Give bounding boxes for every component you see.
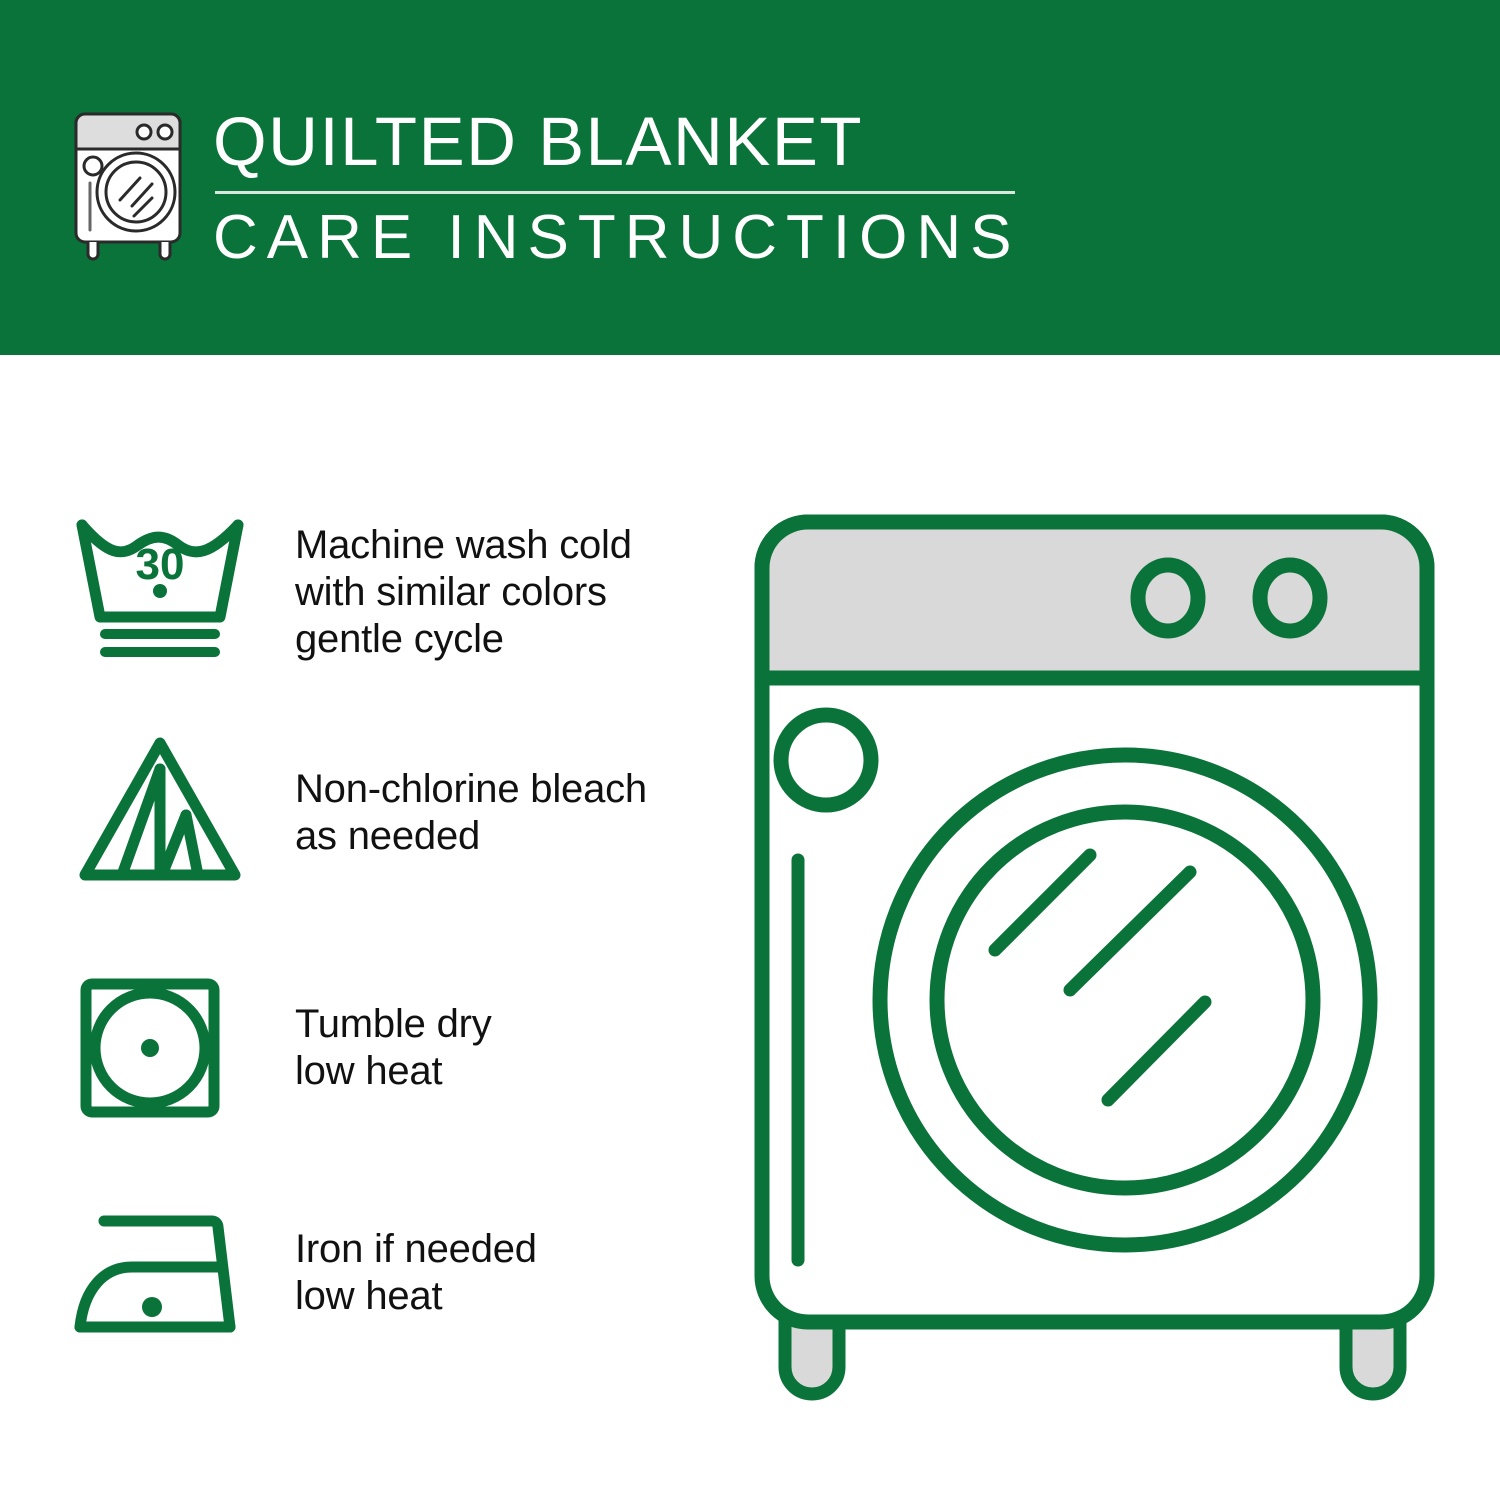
non-chlorine-bleach-triangle-icon xyxy=(60,725,260,900)
care-text-line: low heat xyxy=(295,1048,492,1095)
care-text-line: Non-chlorine bleach xyxy=(295,766,647,813)
care-item-iron: Iron if needed low heat xyxy=(0,1185,740,1360)
header-title-group: QUILTED BLANKET CARE INSTRUCTIONS xyxy=(213,102,1053,276)
care-item-iron-text: Iron if needed low heat xyxy=(295,1226,537,1320)
header-banner: QUILTED BLANKET CARE INSTRUCTIONS xyxy=(0,0,1500,355)
care-instructions-list: 30 Machine wash cold with similar colors… xyxy=(0,355,740,1500)
wash-temperature-label: 30 xyxy=(136,540,185,589)
care-item-wash: 30 Machine wash cold with similar colors… xyxy=(0,505,740,680)
title-divider xyxy=(215,191,1015,194)
page-title: QUILTED BLANKET xyxy=(213,102,1053,182)
care-text-line: Machine wash cold xyxy=(295,522,632,569)
front-load-washing-machine-illustration xyxy=(740,460,1500,1440)
wash-tub-30-icon: 30 xyxy=(60,505,260,680)
care-item-tumble-dry-text: Tumble dry low heat xyxy=(295,1001,492,1095)
page-subtitle: CARE INSTRUCTIONS xyxy=(213,200,1053,276)
care-instructions-page: QUILTED BLANKET CARE INSTRUCTIONS xyxy=(0,0,1500,1500)
care-text-line: low heat xyxy=(295,1273,537,1320)
care-item-bleach-text: Non-chlorine bleach as needed xyxy=(295,766,647,860)
care-item-tumble-dry: Tumble dry low heat xyxy=(0,960,740,1135)
care-text-line: as needed xyxy=(295,813,647,860)
care-text-line: with similar colors xyxy=(295,569,632,616)
care-text-line: gentle cycle xyxy=(295,616,632,663)
washing-machine-icon xyxy=(62,104,202,264)
iron-low-heat-icon xyxy=(60,1185,260,1360)
care-item-bleach: Non-chlorine bleach as needed xyxy=(0,725,740,900)
care-item-wash-text: Machine wash cold with similar colors ge… xyxy=(295,522,632,663)
care-text-line: Iron if needed xyxy=(295,1226,537,1273)
tumble-dry-low-icon xyxy=(60,960,260,1135)
care-text-line: Tumble dry xyxy=(295,1001,492,1048)
